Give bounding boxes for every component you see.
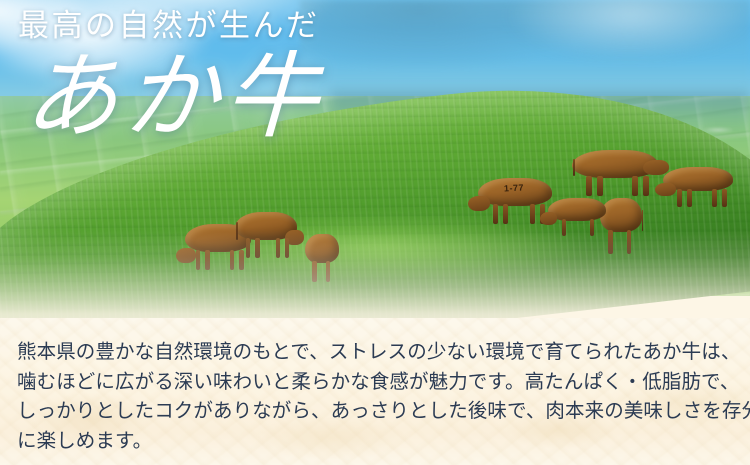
cow-leg	[677, 189, 682, 207]
body-line: しっかりとしたコクがありながら、あっさりとした後味で、肉本来の美味しさを存分	[17, 397, 739, 427]
cow-leg	[632, 176, 638, 196]
cow-leg	[503, 204, 508, 224]
cow-leg	[493, 204, 498, 224]
cow-leg	[722, 189, 727, 207]
cow-ear-tag-number: 1-77	[504, 182, 525, 193]
cow-leg	[597, 176, 603, 196]
cow-right-grazing	[663, 165, 733, 207]
cow-head	[468, 196, 490, 211]
body-copy: 熊本県の豊かな自然環境のもとで、ストレスの少ない環境で育てられたあか牛は、 噛む…	[17, 338, 739, 456]
cow-head	[655, 183, 676, 196]
body-line: 熊本県の豊かな自然環境のもとで、ストレスの少ない環境で育てられたあか牛は、	[17, 338, 739, 368]
cow-center-large	[572, 148, 658, 196]
headline-title: あか牛	[22, 51, 325, 145]
cow-leg	[586, 176, 592, 196]
body-line: 噛むほどに広がる深い味わいと柔らかな食感が魅力です。高たんぱく・低脂肪で、	[17, 368, 739, 398]
cloud-haze-right	[480, 0, 750, 70]
headline-block: 最高の自然が生んだ あか牛	[18, 8, 324, 145]
headline-subtitle: 最高の自然が生んだ	[18, 8, 324, 45]
akaushi-promo-banner: 1-77	[0, 0, 750, 465]
cow-head	[540, 212, 557, 225]
cow-leg	[687, 189, 692, 207]
cow-leg	[712, 189, 717, 207]
cow-leg	[530, 204, 535, 224]
body-line: に楽しめます。	[17, 427, 739, 457]
cow-leg	[643, 176, 649, 196]
cow-body	[600, 198, 642, 232]
cow-tail	[642, 210, 643, 231]
